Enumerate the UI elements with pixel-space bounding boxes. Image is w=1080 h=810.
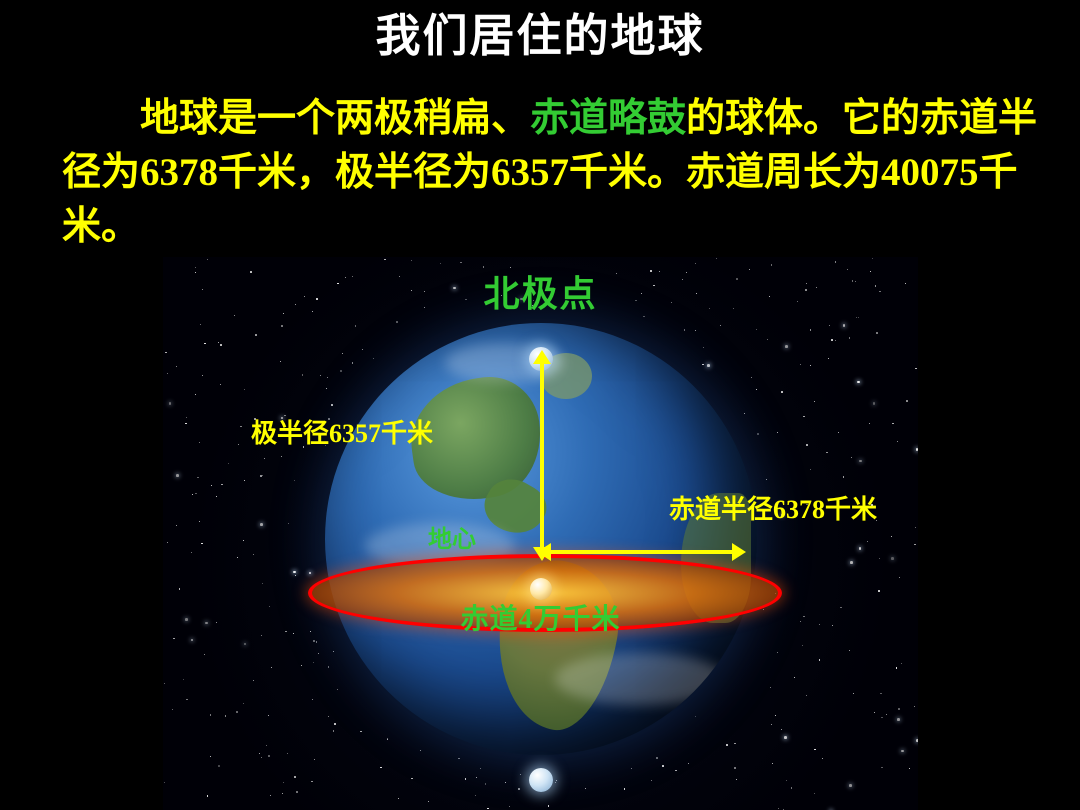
- cloud-band-2: [555, 653, 725, 705]
- label-earth-core: 地心: [428, 519, 476, 554]
- star: [318, 653, 320, 655]
- star: [331, 404, 333, 406]
- star: [853, 693, 854, 694]
- star: [898, 708, 900, 710]
- star: [293, 571, 296, 574]
- star: [794, 677, 795, 678]
- star: [876, 332, 878, 334]
- star: [480, 768, 481, 769]
- star: [781, 729, 783, 731]
- star: [695, 716, 696, 717]
- star: [651, 780, 652, 781]
- star: [829, 325, 830, 326]
- star: [822, 758, 823, 759]
- star: [726, 744, 728, 746]
- star: [398, 798, 399, 799]
- star: [520, 774, 521, 775]
- star: [914, 544, 915, 545]
- star: [859, 547, 862, 550]
- star: [901, 750, 904, 753]
- star: [835, 340, 836, 341]
- star: [204, 654, 205, 655]
- star: [872, 258, 873, 259]
- polar-radius-arrow: [540, 363, 544, 548]
- star: [688, 763, 689, 764]
- star: [656, 757, 658, 759]
- star: [294, 480, 295, 481]
- star: [176, 474, 179, 477]
- star: [786, 780, 787, 781]
- star: [881, 717, 883, 719]
- star: [312, 699, 313, 700]
- star: [311, 781, 312, 782]
- star: [707, 364, 710, 367]
- star: [262, 583, 263, 584]
- star: [916, 448, 919, 451]
- star: [384, 259, 385, 260]
- star: [624, 788, 625, 789]
- star: [878, 590, 880, 592]
- star: [296, 791, 298, 793]
- star: [831, 339, 833, 341]
- star: [221, 484, 223, 486]
- star: [309, 572, 312, 575]
- star: [458, 758, 459, 759]
- star: [281, 456, 282, 457]
- label-polar-radius: 极半径6357千米: [251, 413, 433, 450]
- star: [555, 782, 556, 783]
- star: [744, 413, 745, 414]
- star: [167, 542, 168, 543]
- star: [244, 389, 245, 390]
- star: [784, 736, 787, 739]
- star: [240, 426, 241, 427]
- star: [220, 384, 221, 385]
- star: [835, 261, 836, 262]
- star: [210, 714, 212, 716]
- star: [810, 329, 812, 331]
- star: [191, 639, 194, 642]
- star: [191, 552, 192, 553]
- star: [879, 558, 880, 559]
- star: [850, 561, 853, 564]
- star: [301, 665, 302, 666]
- star: [373, 358, 374, 359]
- star: [271, 667, 272, 668]
- star: [766, 479, 767, 480]
- star: [270, 795, 271, 796]
- star: [775, 715, 776, 716]
- star: [243, 703, 244, 704]
- star: [218, 765, 220, 767]
- star: [244, 643, 247, 646]
- star: [302, 374, 304, 376]
- star: [253, 554, 254, 555]
- star: [260, 523, 263, 526]
- label-equator-circumference: 赤道4万千米: [163, 597, 918, 637]
- star: [838, 432, 839, 433]
- star: [843, 476, 844, 477]
- star: [411, 260, 412, 261]
- star: [810, 469, 811, 470]
- star: [169, 402, 172, 405]
- star: [897, 718, 900, 721]
- star: [195, 394, 196, 395]
- star: [777, 652, 778, 653]
- star: [316, 641, 317, 642]
- star: [195, 493, 196, 494]
- star: [772, 763, 773, 764]
- star: [859, 460, 862, 463]
- star: [327, 377, 328, 378]
- star: [288, 523, 290, 525]
- star: [362, 349, 363, 350]
- star: [736, 779, 737, 780]
- star: [487, 808, 488, 809]
- star: [806, 444, 808, 446]
- star: [810, 365, 811, 366]
- star: [695, 263, 696, 264]
- star: [280, 361, 281, 362]
- label-north-pole: 北极点: [163, 265, 918, 317]
- star: [266, 745, 267, 746]
- star: [802, 645, 803, 646]
- star: [243, 540, 244, 541]
- star: [313, 640, 314, 641]
- page-title: 我们居住的地球: [0, 12, 1080, 62]
- star: [420, 750, 421, 751]
- star: [460, 262, 462, 264]
- star: [891, 557, 894, 560]
- star: [255, 334, 257, 336]
- star: [440, 263, 441, 264]
- star: [192, 494, 193, 495]
- star: [509, 806, 510, 807]
- star: [899, 577, 900, 578]
- star: [165, 352, 166, 353]
- star: [518, 788, 520, 790]
- star: [228, 463, 229, 464]
- star: [880, 693, 881, 694]
- star: [328, 716, 329, 717]
- star: [476, 777, 477, 778]
- star: [873, 402, 876, 405]
- star: [849, 337, 850, 338]
- star: [843, 324, 846, 327]
- earth-diagram-image: 北极点 极半径6357千米 赤道半径6378千米 地心 赤道4万千米: [163, 257, 918, 810]
- star: [295, 575, 296, 576]
- star: [337, 689, 338, 690]
- star: [216, 496, 217, 497]
- star: [869, 423, 870, 424]
- star: [320, 375, 321, 376]
- star: [915, 527, 916, 528]
- star: [185, 423, 186, 424]
- star: [675, 770, 677, 772]
- star: [220, 344, 222, 346]
- star: [260, 475, 262, 477]
- star: [207, 259, 208, 260]
- star: [906, 400, 908, 402]
- star: [874, 712, 875, 713]
- star: [264, 458, 265, 459]
- star: [867, 541, 868, 542]
- star: [856, 317, 857, 318]
- body-text-segment-1: 地球是一个两极稍扁、: [140, 97, 530, 140]
- star: [916, 739, 918, 742]
- star: [333, 651, 334, 652]
- south-pole-marker: [529, 768, 553, 792]
- star: [238, 444, 239, 445]
- star: [253, 680, 254, 681]
- star: [849, 784, 852, 787]
- star: [548, 805, 550, 807]
- star: [355, 325, 356, 326]
- star: [211, 485, 212, 486]
- star: [283, 782, 284, 783]
- star: [897, 441, 898, 442]
- star: [734, 743, 735, 744]
- star: [485, 783, 486, 784]
- star: [785, 345, 788, 348]
- star: [199, 442, 201, 444]
- star: [236, 711, 238, 713]
- star: [281, 325, 283, 327]
- star: [915, 368, 916, 369]
- star: [770, 687, 771, 688]
- star: [167, 373, 168, 374]
- star: [282, 793, 283, 794]
- star: [334, 723, 336, 725]
- star: [771, 724, 772, 725]
- star: [781, 391, 783, 393]
- star: [806, 695, 807, 696]
- star: [828, 358, 829, 359]
- star: [716, 258, 717, 259]
- star: [380, 767, 381, 768]
- star: [261, 757, 262, 758]
- star: [756, 389, 757, 390]
- star: [164, 782, 165, 783]
- star: [465, 778, 467, 780]
- star: [197, 477, 198, 478]
- star: [914, 706, 916, 708]
- star: [684, 329, 685, 330]
- star: [314, 759, 316, 761]
- star: [662, 765, 664, 767]
- star: [268, 755, 270, 757]
- star: [475, 795, 476, 796]
- star: [800, 364, 801, 365]
- slide: 我们居住的地球 地球是一个两极稍扁、赤道略鼓的球体。它的赤道半径为6378千米，…: [0, 0, 1080, 810]
- star: [734, 767, 735, 768]
- star: [287, 753, 288, 754]
- star: [757, 433, 759, 435]
- star: [186, 699, 187, 700]
- body-text-segment-highlight: 赤道略鼓: [530, 97, 686, 140]
- star: [896, 667, 897, 668]
- star: [585, 788, 586, 789]
- star: [342, 353, 344, 355]
- star: [218, 342, 219, 343]
- label-equatorial-radius: 赤道半径6378千米: [669, 489, 877, 526]
- star: [201, 543, 202, 544]
- star: [268, 715, 269, 716]
- star: [173, 638, 174, 639]
- star: [857, 381, 860, 384]
- star: [791, 787, 792, 788]
- star: [751, 377, 752, 378]
- star: [891, 536, 892, 537]
- star: [814, 401, 815, 402]
- star: [199, 521, 200, 522]
- star: [819, 659, 821, 661]
- star: [328, 666, 329, 667]
- star: [202, 375, 203, 376]
- star: [244, 480, 245, 481]
- star: [803, 416, 804, 417]
- star: [756, 329, 757, 330]
- star: [210, 756, 211, 757]
- star: [901, 663, 902, 664]
- star: [164, 683, 165, 684]
- star: [826, 452, 827, 453]
- star: [814, 793, 815, 794]
- star: [767, 339, 768, 340]
- star: [176, 366, 177, 367]
- star: [259, 753, 260, 754]
- star: [505, 782, 506, 783]
- star: [204, 343, 205, 344]
- star: [326, 388, 327, 389]
- star: [778, 808, 779, 809]
- star: [313, 662, 314, 663]
- star: [352, 362, 353, 363]
- star: [237, 557, 238, 558]
- star: [881, 767, 882, 768]
- body-paragraph: 地球是一个两极稍扁、赤道略鼓的球体。它的赤道半径为6378千米，极半径为6357…: [62, 92, 1042, 253]
- star: [428, 801, 429, 802]
- star: [172, 709, 173, 710]
- star: [909, 768, 911, 770]
- star: [720, 325, 721, 326]
- star: [207, 795, 208, 796]
- star: [703, 347, 704, 348]
- star: [777, 432, 778, 433]
- star: [695, 330, 696, 331]
- star: [886, 714, 887, 715]
- star: [340, 370, 342, 372]
- star: [176, 525, 177, 526]
- star: [702, 364, 703, 365]
- star: [851, 457, 852, 458]
- star: [183, 679, 184, 680]
- equatorial-radius-arrow: [550, 550, 733, 554]
- star: [186, 417, 187, 418]
- star: [631, 768, 632, 769]
- star: [396, 321, 398, 323]
- star: [387, 739, 388, 740]
- star: [179, 588, 180, 589]
- star: [411, 778, 412, 779]
- star: [225, 715, 226, 716]
- star: [360, 731, 361, 732]
- star: [892, 423, 894, 425]
- star: [294, 776, 296, 778]
- star: [333, 730, 335, 732]
- star: [200, 324, 201, 325]
- star: [814, 749, 815, 750]
- star: [849, 650, 850, 651]
